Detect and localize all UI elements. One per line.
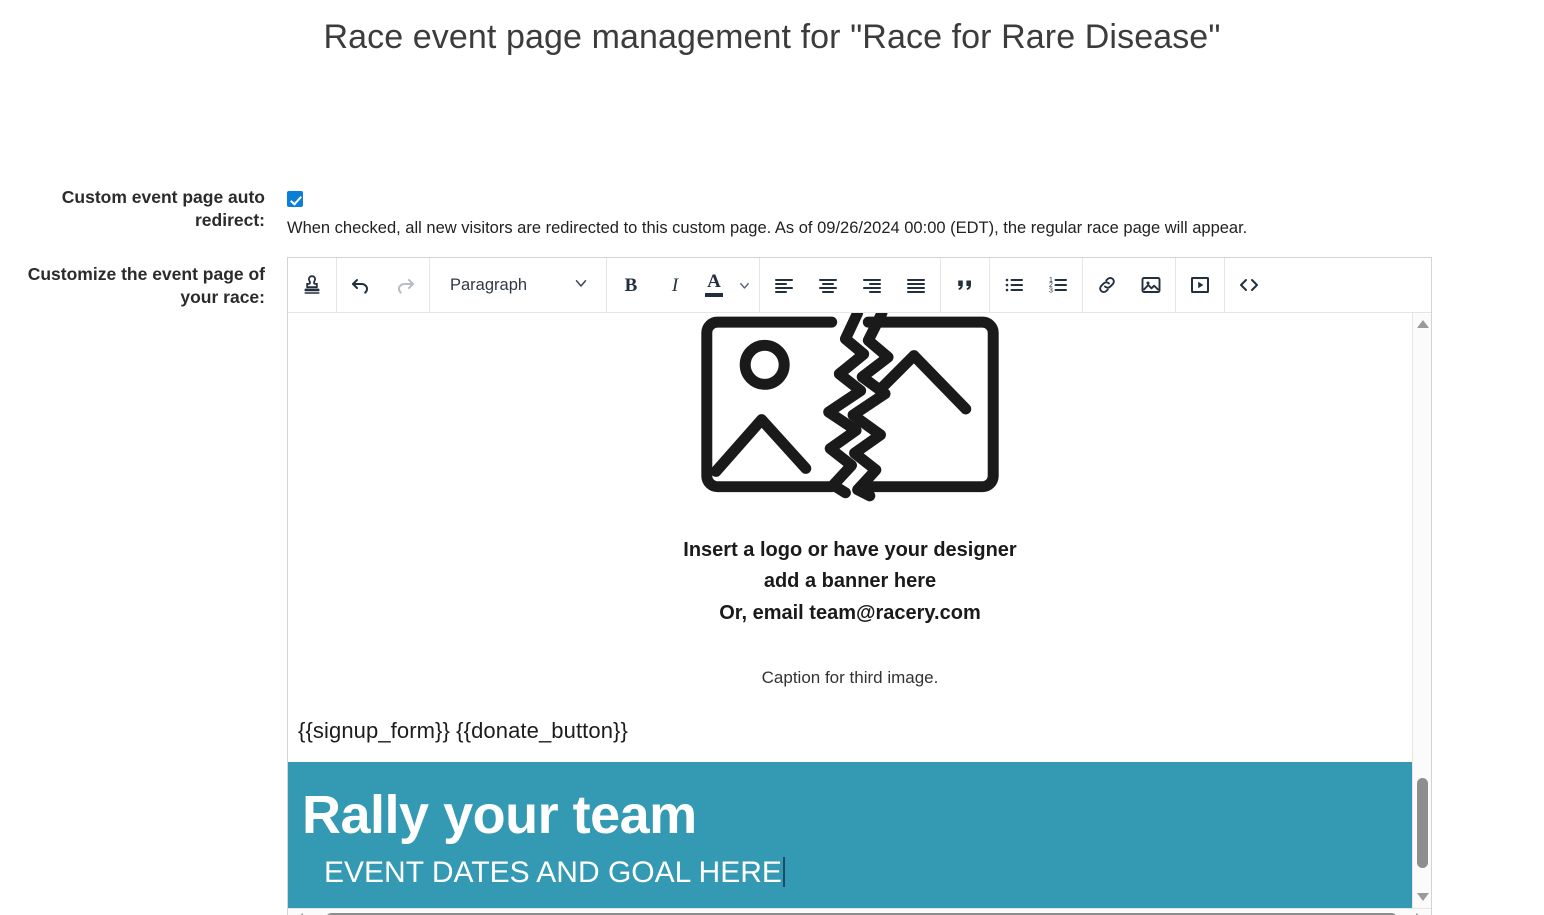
align-justify-icon[interactable] bbox=[894, 259, 938, 312]
editor-body: Paragraph B I bbox=[265, 257, 1440, 915]
media-icon[interactable] bbox=[1178, 259, 1222, 312]
toolbar-group-insert bbox=[1083, 258, 1176, 312]
toolbar-group-template bbox=[288, 258, 337, 312]
field-row-customize-event-page: Customize the event page of your race: bbox=[0, 257, 1440, 915]
chevron-down-icon bbox=[572, 274, 590, 297]
editor-toolbar: Paragraph B I bbox=[288, 258, 1431, 313]
bold-icon[interactable]: B bbox=[609, 259, 653, 312]
banner-subheading-text: EVENT DATES AND GOAL HERE bbox=[324, 856, 782, 889]
toolbar-group-history bbox=[337, 258, 430, 312]
chevron-down-icon[interactable] bbox=[731, 259, 757, 312]
image-icon[interactable] bbox=[1129, 259, 1173, 312]
toolbar-group-source bbox=[1225, 258, 1273, 312]
svg-text:B: B bbox=[625, 275, 638, 296]
svg-text:3: 3 bbox=[1049, 287, 1053, 294]
blockquote-icon[interactable] bbox=[943, 259, 987, 312]
label-customize-event-page: Customize the event page of your race: bbox=[0, 257, 265, 309]
page-title: Race event page management for "Race for… bbox=[0, 0, 1544, 57]
vertical-scroll-thumb[interactable] bbox=[1417, 778, 1428, 868]
broken-image-placeholder: Insert a logo or have your designer add … bbox=[288, 313, 1412, 628]
color-swatch-bar bbox=[705, 293, 723, 297]
rich-text-editor: Paragraph B I bbox=[287, 257, 1432, 915]
redo-icon[interactable] bbox=[383, 259, 427, 312]
scroll-up-arrow-icon[interactable] bbox=[1413, 315, 1431, 333]
editor-canvas[interactable]: Insert a logo or have your designer add … bbox=[288, 313, 1412, 908]
scroll-left-arrow-icon[interactable] bbox=[290, 909, 308, 915]
auto-redirect-body: When checked, all new visitors are redir… bbox=[265, 169, 1440, 239]
font-color-icon[interactable]: A bbox=[697, 259, 757, 312]
link-icon[interactable] bbox=[1085, 259, 1129, 312]
scroll-down-arrow-icon[interactable] bbox=[1413, 888, 1431, 906]
auto-redirect-help-text: When checked, all new visitors are redir… bbox=[287, 217, 1440, 239]
placeholder-caption-line-3: Or, email team@racery.com bbox=[683, 599, 1016, 628]
block-format-value: Paragraph bbox=[450, 276, 527, 295]
bullet-list-icon[interactable] bbox=[992, 259, 1036, 312]
editor-horizontal-scrollbar[interactable] bbox=[288, 908, 1431, 915]
align-left-icon[interactable] bbox=[762, 259, 806, 312]
toolbar-group-format-select: Paragraph bbox=[430, 258, 607, 312]
template-tags-line[interactable]: {{signup_form}} {{donate_button}} bbox=[288, 718, 1412, 744]
stamp-icon[interactable] bbox=[290, 259, 334, 312]
placeholder-caption-line-1: Insert a logo or have your designer bbox=[683, 536, 1016, 565]
placeholder-caption-line-2: add a banner here bbox=[683, 567, 1016, 596]
toolbar-group-lists: 1 2 3 bbox=[990, 258, 1083, 312]
field-row-auto-redirect: Custom event page auto redirect: When ch… bbox=[0, 169, 1440, 239]
font-color-glyph: A bbox=[697, 259, 731, 312]
svg-text:I: I bbox=[671, 275, 680, 296]
editor-vertical-scrollbar[interactable] bbox=[1412, 313, 1431, 908]
text-cursor bbox=[783, 857, 785, 887]
toolbar-group-alignment bbox=[760, 258, 941, 312]
align-center-icon[interactable] bbox=[806, 259, 850, 312]
auto-redirect-checkbox[interactable] bbox=[287, 191, 303, 207]
italic-icon[interactable]: I bbox=[653, 259, 697, 312]
undo-icon[interactable] bbox=[339, 259, 383, 312]
placeholder-inner: Insert a logo or have your designer add … bbox=[683, 313, 1016, 628]
toolbar-group-media bbox=[1176, 258, 1225, 312]
banner-heading[interactable]: Rally your team bbox=[288, 788, 1412, 842]
label-auto-redirect: Custom event page auto redirect: bbox=[0, 169, 265, 232]
image-caption[interactable]: Caption for third image. bbox=[288, 668, 1412, 688]
letter-a-glyph: A bbox=[707, 274, 721, 290]
block-format-select[interactable]: Paragraph bbox=[432, 259, 604, 312]
align-right-icon[interactable] bbox=[850, 259, 894, 312]
scroll-right-arrow-icon[interactable] bbox=[1411, 909, 1429, 915]
toolbar-group-text-style: B I A bbox=[607, 258, 760, 312]
editor-content-area[interactable]: Insert a logo or have your designer add … bbox=[288, 313, 1431, 908]
broken-image-glyph bbox=[695, 313, 1005, 508]
source-code-icon[interactable] bbox=[1227, 259, 1271, 312]
banner-subheading[interactable]: EVENT DATES AND GOAL HERE bbox=[288, 856, 785, 890]
event-banner[interactable]: Rally your team EVENT DATES AND GOAL HER… bbox=[288, 762, 1412, 908]
numbered-list-icon[interactable]: 1 2 3 bbox=[1036, 259, 1080, 312]
toolbar-group-blockquote bbox=[941, 258, 990, 312]
